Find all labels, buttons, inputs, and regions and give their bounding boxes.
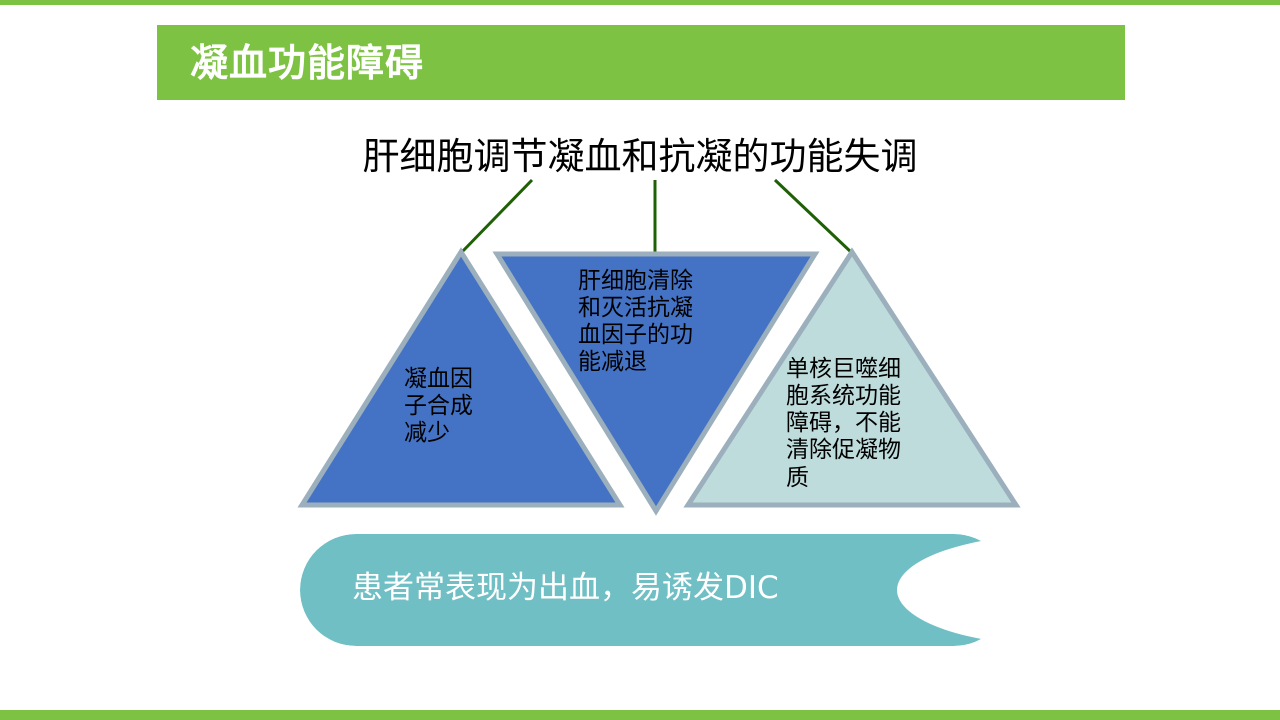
connector-line-left <box>461 180 532 253</box>
slide-canvas: 凝血功能障碍 肝细胞调节凝血和抗凝的功能失调 <box>0 0 1280 720</box>
connector-lines <box>461 180 852 255</box>
triangle-middle-label: 肝细胞清除 和灭活抗凝 血因子的功 能减退 <box>578 268 732 377</box>
connector-line-right <box>775 180 852 253</box>
callout-label: 患者常表现为出血，易诱发DIC <box>352 570 912 607</box>
bottom-accent-rule <box>0 710 1280 720</box>
triangle-right-label: 单核巨噬细 胞系统功能 障碍，不能 清除促凝物 质 <box>786 356 928 492</box>
triangle-left-label: 凝血因 子合成 减少 <box>404 366 532 447</box>
